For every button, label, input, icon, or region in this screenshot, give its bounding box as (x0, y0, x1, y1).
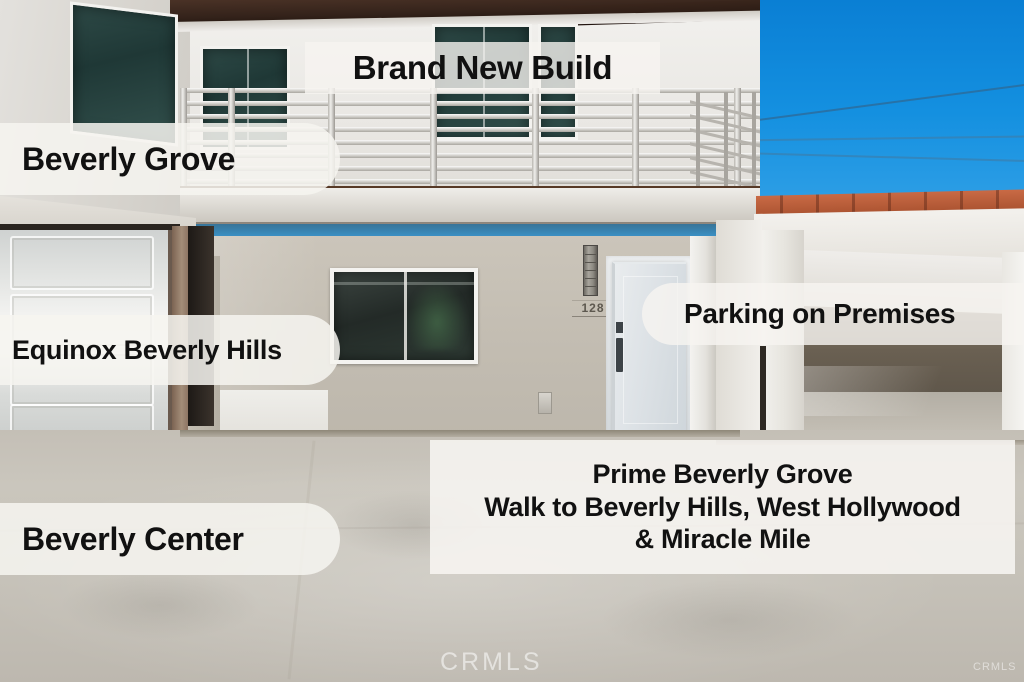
ground-floor-window (330, 268, 478, 364)
label-equinox-beverly-hills: Equinox Beverly Hills (0, 315, 340, 385)
label-beverly-center: Beverly Center (0, 503, 340, 575)
wall-sconce-light (583, 245, 598, 296)
carport-right-post (1002, 252, 1024, 446)
balcony-railing-side (690, 92, 760, 192)
label-brand-new-build: Brand New Build (305, 42, 660, 94)
info-line-3: & Miracle Mile (635, 523, 811, 556)
label-info-block: Prime Beverly Grove Walk to Beverly Hill… (430, 440, 1015, 574)
info-line-2: Walk to Beverly Hills, West Hollywood (484, 491, 961, 524)
crmls-watermark-primary: CRMLS (440, 648, 543, 677)
door-lock (616, 322, 623, 333)
crmls-watermark-secondary: CRMLS (973, 661, 1017, 673)
utility-box (538, 392, 552, 414)
listing-photo-canvas: 128 (0, 0, 1024, 682)
door-handle (616, 338, 623, 372)
carport-light-band (802, 366, 1002, 416)
driveway-threshold (180, 430, 740, 437)
label-parking-on-premises: Parking on Premises (642, 283, 1024, 345)
info-line-1: Prime Beverly Grove (593, 458, 853, 491)
label-beverly-grove: Beverly Grove (0, 123, 340, 195)
